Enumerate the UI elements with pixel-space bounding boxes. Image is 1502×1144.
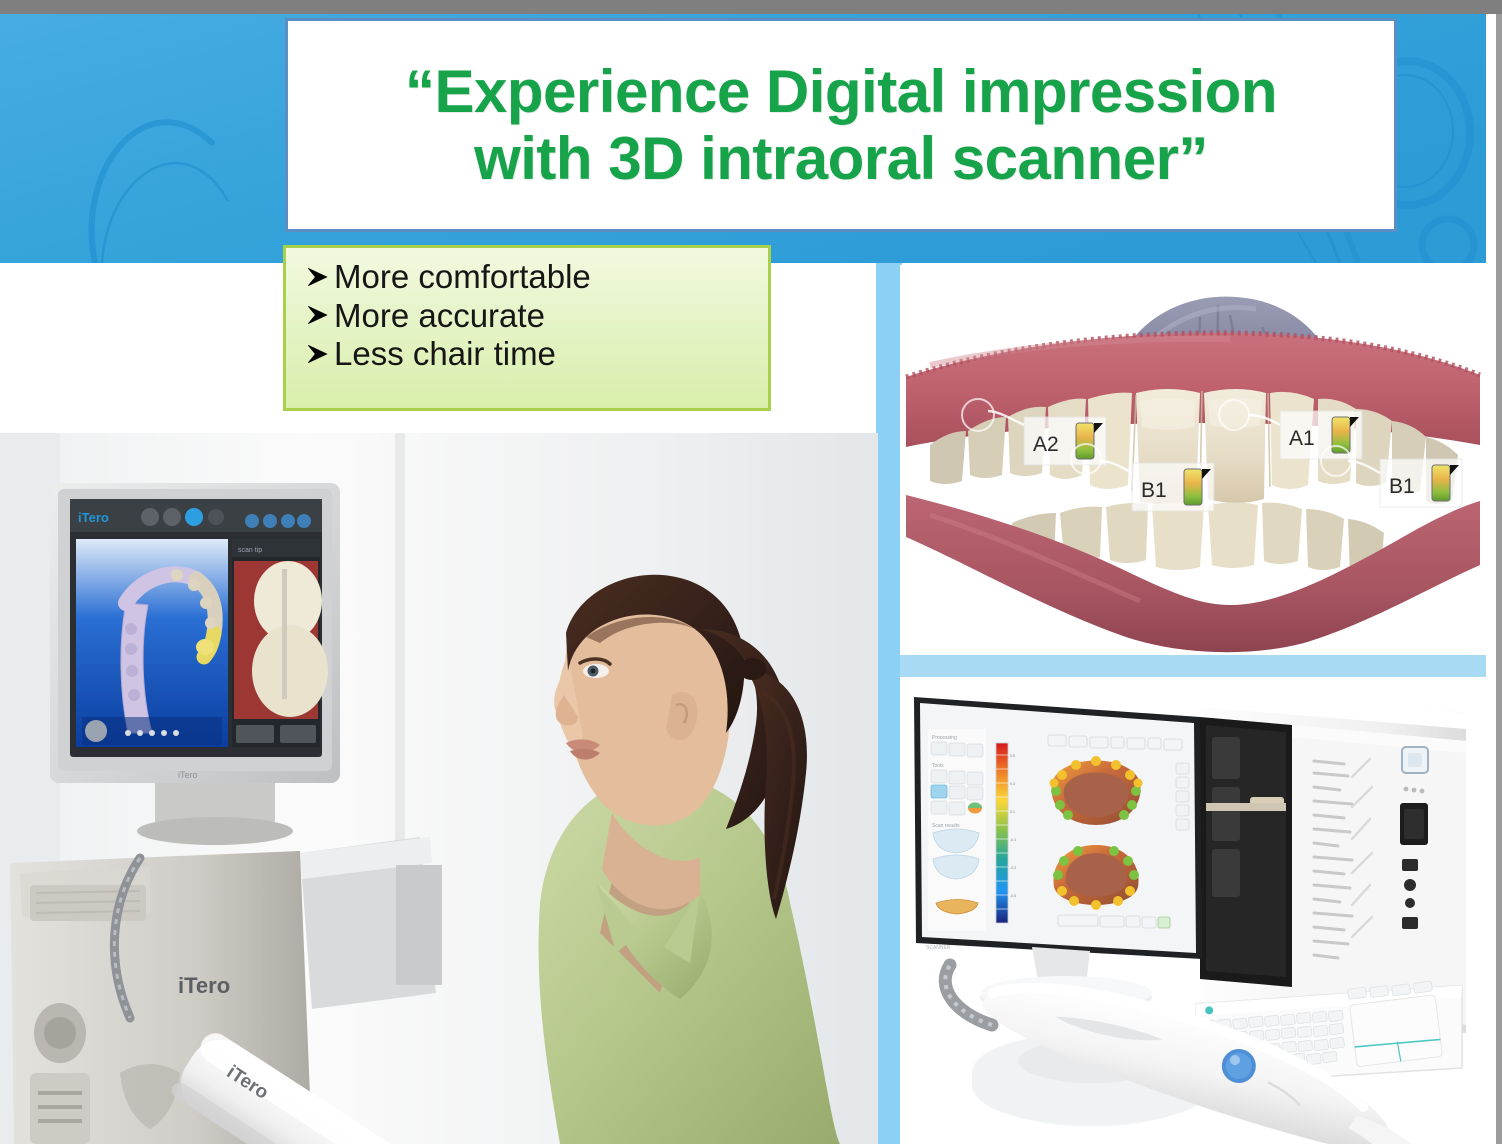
- arrow-bullet-icon: [304, 264, 330, 290]
- list-item: Less chair time: [304, 337, 768, 371]
- title-line-1: “Experience Digital impression: [405, 58, 1277, 125]
- svg-text:0.3: 0.3: [1010, 782, 1015, 786]
- digital-teeth-shade-render: A2 B1 A1 B1: [900, 265, 1486, 655]
- background-right-gray-edge: [1496, 13, 1502, 1144]
- svg-text:Tools: Tools: [932, 763, 944, 769]
- list-item-label: Less chair time: [334, 337, 556, 371]
- svg-text:iTero: iTero: [178, 770, 198, 780]
- arrow-bullet-icon: [304, 341, 330, 367]
- arrow-bullet-icon: [304, 302, 330, 328]
- svg-text:iTero: iTero: [178, 973, 230, 998]
- shade-label: A1: [1289, 427, 1315, 450]
- list-item-label: More comfortable: [334, 260, 591, 294]
- background-vertical-strip: [876, 263, 902, 1144]
- list-item: More accurate: [304, 299, 768, 333]
- svg-text:Scan results: Scan results: [932, 823, 960, 829]
- background-gap-strip: [900, 655, 1486, 677]
- top-gray-band: [0, 0, 1502, 14]
- title-line-2: with 3D intraoral scanner”: [405, 125, 1277, 192]
- shade-label: B1: [1389, 475, 1415, 498]
- list-item-label: More accurate: [334, 299, 545, 333]
- page-title: “Experience Digital impression with 3D i…: [393, 58, 1289, 192]
- scanner-workstation-photo: Processing Tools Scan results: [900, 677, 1486, 1144]
- list-item: More comfortable: [304, 260, 768, 294]
- svg-text:iTero: iTero: [78, 510, 109, 525]
- title-box: “Experience Digital impression with 3D i…: [285, 18, 1397, 232]
- clinician-scanning-patient-photo: iTero: [0, 433, 878, 1144]
- svg-text:SCANNER: SCANNER: [926, 945, 951, 951]
- svg-text:Processing: Processing: [932, 735, 957, 741]
- svg-text:scan tip: scan tip: [238, 547, 262, 554]
- svg-text:0.5: 0.5: [1010, 754, 1015, 758]
- svg-text:-0.5: -0.5: [1010, 894, 1016, 898]
- slide-root: “Experience Digital impression with 3D i…: [0, 0, 1502, 1144]
- shade-label: A2: [1033, 433, 1059, 456]
- svg-text:0.1: 0.1: [1010, 810, 1015, 814]
- benefits-list: More comfortable More accurate Less chai…: [283, 245, 771, 411]
- svg-text:-0.1: -0.1: [1010, 838, 1016, 842]
- shade-label: B1: [1141, 479, 1167, 502]
- svg-text:-0.3: -0.3: [1010, 866, 1016, 870]
